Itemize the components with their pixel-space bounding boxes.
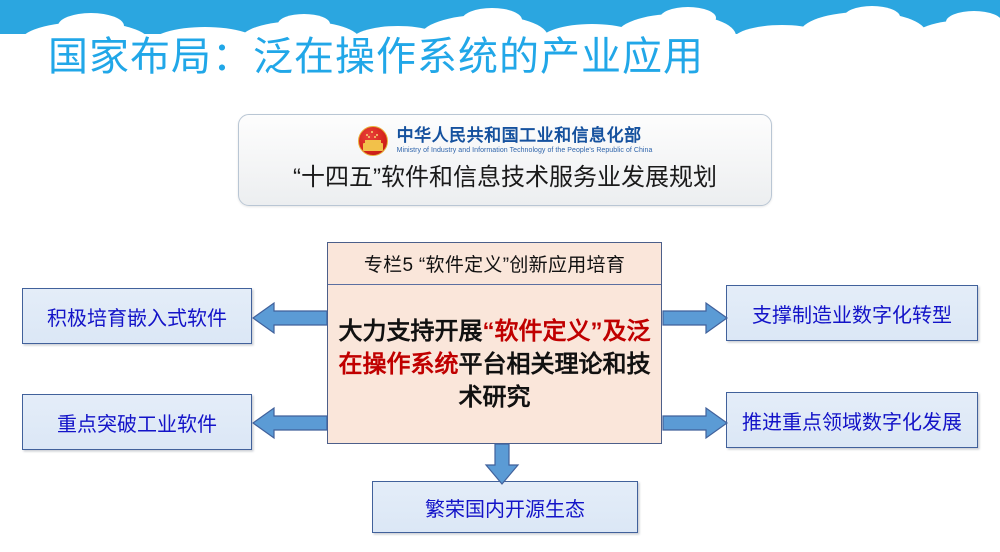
box-embedded-software[interactable]: 积极培育嵌入式软件 — [22, 288, 252, 344]
miit-org-name-en: Ministry of Industry and Information Tec… — [397, 146, 653, 155]
cloud-banner — [0, 0, 1000, 38]
box-open-source-ecosystem-label: 繁荣国内开源生态 — [425, 493, 585, 522]
arrow-right-icon — [662, 405, 728, 441]
miit-org-names: 中华人民共和国工业和信息化部 Ministry of Industry and … — [397, 127, 653, 156]
miit-org-name-cn: 中华人民共和国工业和信息化部 — [397, 127, 653, 145]
center-box-body: 大力支持开展“软件定义”及泛在操作系统平台相关理论和技术研究 — [328, 285, 661, 444]
box-industrial-software[interactable]: 重点突破工业软件 — [22, 394, 252, 450]
miit-plan-card: 中华人民共和国工业和信息化部 Ministry of Industry and … — [238, 114, 772, 206]
page-title: 国家布局：泛在操作系统的产业应用 — [48, 34, 704, 80]
box-embedded-software-label: 积极培育嵌入式软件 — [47, 302, 227, 331]
cloud-shape — [462, 8, 522, 32]
cloud-shape — [946, 11, 1000, 33]
cloud-shape — [278, 14, 330, 34]
box-key-domain-digital-development[interactable]: 推进重点领域数字化发展 — [726, 392, 978, 448]
miit-org-header: 中华人民共和国工业和信息化部 Ministry of Industry and … — [239, 115, 771, 163]
arrow-left-icon — [252, 300, 328, 336]
box-open-source-ecosystem[interactable]: 繁荣国内开源生态 — [372, 481, 638, 533]
cloud-shape — [660, 7, 716, 29]
cloud-shape — [844, 6, 900, 28]
arrow-left-icon — [252, 405, 328, 441]
miit-plan-title: “十四五”软件和信息技术服务业发展规划 — [239, 166, 771, 190]
box-manufacturing-digital-transformation-label: 支撑制造业数字化转型 — [752, 299, 952, 328]
box-industrial-software-label: 重点突破工业软件 — [57, 408, 217, 437]
arrow-down-icon — [482, 443, 522, 485]
center-body-text-part1: 大力支持开展 — [339, 318, 483, 345]
china-national-emblem-icon — [358, 126, 388, 156]
box-key-domain-digital-development-label: 推进重点领域数字化发展 — [742, 406, 962, 435]
center-body-text-part3: 平台相关理论和技术研究 — [459, 351, 651, 411]
box-manufacturing-digital-transformation[interactable]: 支撑制造业数字化转型 — [726, 285, 978, 341]
arrow-right-icon — [662, 300, 728, 336]
center-policy-box: 专栏5 “软件定义”创新应用培育 大力支持开展“软件定义”及泛在操作系统平台相关… — [327, 242, 662, 444]
center-box-header: 专栏5 “软件定义”创新应用培育 — [328, 243, 661, 285]
